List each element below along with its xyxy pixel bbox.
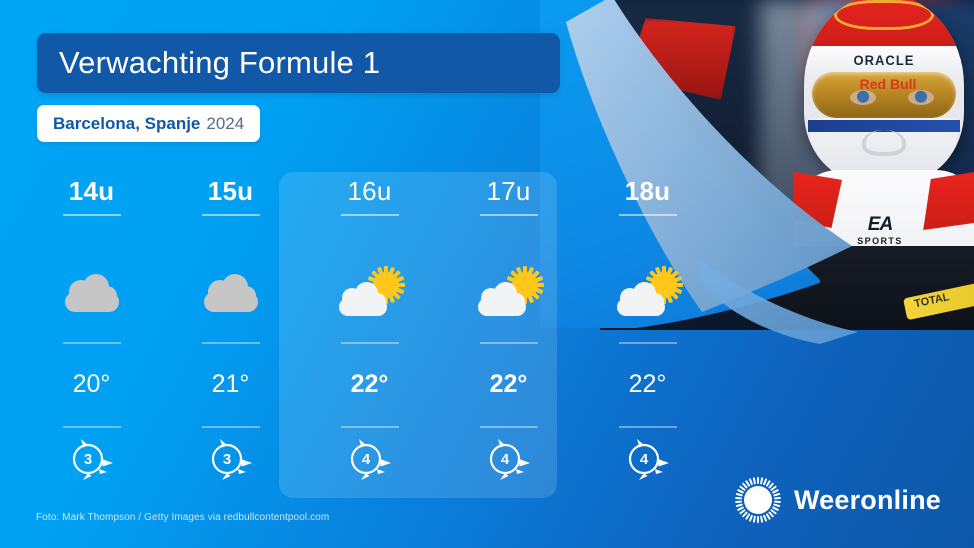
wind-force-value: 4	[344, 436, 396, 482]
temperature-value: 22°	[490, 364, 528, 404]
wind-direction-icon: 4	[622, 436, 674, 482]
temperature-value: 21°	[212, 364, 250, 404]
divider-middle	[480, 342, 538, 344]
wind-slot: 3	[66, 428, 118, 490]
driver-eye-left	[850, 90, 876, 105]
wind-slot: 4	[344, 428, 396, 490]
partly-sunny-icon	[617, 272, 679, 316]
location-badge: Barcelona, Spanje 2024	[37, 105, 260, 142]
helmet-sponsor-text: ORACLE	[854, 52, 915, 68]
sun-burst-icon	[735, 477, 781, 523]
forecast-column-18u[interactable]: 18u22°4	[578, 176, 717, 496]
forecast-column-17u[interactable]: 17u22°4	[439, 176, 578, 496]
wind-force-value: 4	[483, 436, 535, 482]
logo-wordmark: Weeronline	[794, 485, 941, 516]
divider-middle	[341, 342, 399, 344]
wind-slot: 4	[622, 428, 674, 490]
weather-icon-slot	[339, 250, 401, 338]
suit-sponsor-yellow-text: TOTAL	[913, 291, 950, 310]
weeronline-logo: Weeronline	[735, 477, 941, 523]
wind-direction-icon: 3	[205, 436, 257, 482]
hour-label: 18u	[625, 176, 670, 210]
wind-slot: 3	[205, 428, 257, 490]
divider-top	[480, 214, 538, 216]
chest-sponsor-sub: SPORTS	[857, 236, 902, 246]
helmet-crown	[804, 0, 964, 52]
hour-label: 17u	[487, 176, 531, 210]
divider-top	[63, 214, 121, 216]
weather-icon-slot	[63, 250, 121, 338]
driver-eyes	[850, 86, 934, 112]
temperature-value: 20°	[73, 364, 111, 404]
helmet-sponsor-band: ORACLE	[804, 46, 964, 74]
wind-direction-icon: 3	[66, 436, 118, 482]
wind-direction-icon: 4	[344, 436, 396, 482]
weather-icon-slot	[617, 250, 679, 338]
divider-middle	[63, 342, 121, 344]
location-name: Barcelona, Spanje	[53, 114, 200, 134]
temperature-value: 22°	[351, 364, 389, 404]
cloudy-icon	[202, 274, 260, 314]
divider-top	[341, 214, 399, 216]
forecast-columns: 14u20°315u21°316u22°417u22°418u22°4	[22, 176, 672, 496]
photo-credit: Foto: Mark Thompson / Getty Images via r…	[36, 512, 329, 523]
driver-eye-right	[908, 90, 934, 105]
helmet-chin-strap	[862, 130, 906, 156]
title-bar: Verwachting Formule 1	[37, 33, 560, 93]
cloudy-icon	[63, 274, 121, 314]
divider-middle	[619, 342, 677, 344]
weather-graphic: ORACLE Red Bull EA SPORTS	[0, 0, 974, 548]
divider-top	[619, 214, 677, 216]
divider-middle	[202, 342, 260, 344]
partly-sunny-icon	[339, 272, 401, 316]
location-year: 2024	[206, 114, 244, 134]
wind-force-value: 4	[622, 436, 674, 482]
wind-force-value: 3	[66, 436, 118, 482]
wind-force-value: 3	[205, 436, 257, 482]
racing-helmet: ORACLE Red Bull	[804, 0, 964, 182]
page-title: Verwachting Formule 1	[59, 45, 380, 81]
forecast-column-15u[interactable]: 15u21°3	[161, 176, 300, 496]
forecast-column-14u[interactable]: 14u20°3	[22, 176, 161, 496]
hour-label: 15u	[208, 176, 253, 210]
weather-icon-slot	[478, 250, 540, 338]
wind-direction-icon: 4	[483, 436, 535, 482]
partly-sunny-icon	[478, 272, 540, 316]
temperature-value: 22°	[629, 364, 667, 404]
weather-icon-slot	[202, 250, 260, 338]
forecast-column-16u[interactable]: 16u22°4	[300, 176, 439, 496]
helmet-crown-decal	[834, 0, 934, 30]
wind-slot: 4	[483, 428, 535, 490]
suit-sponsor-yellow: TOTAL	[903, 274, 974, 320]
hour-label: 16u	[348, 176, 392, 210]
chest-sponsor-main: EA	[868, 214, 892, 236]
divider-top	[202, 214, 260, 216]
hour-label: 14u	[69, 176, 114, 210]
